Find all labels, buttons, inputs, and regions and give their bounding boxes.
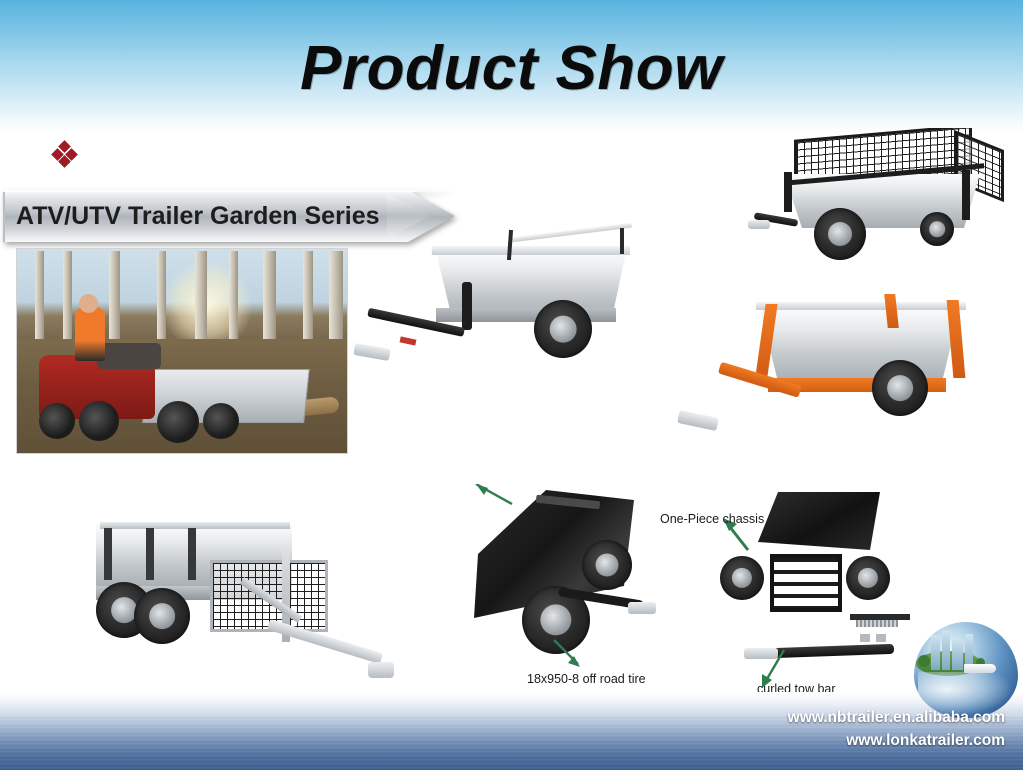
product-image-galvanized-tipping-trailer bbox=[352, 222, 662, 382]
product-image-cage-trailer bbox=[748, 128, 1016, 268]
annotation-arrow-dump bbox=[462, 484, 690, 672]
footer-urls: www.nbtrailer.en.alibaba.com www.lonkatr… bbox=[788, 707, 1005, 752]
banner-label: ATV/UTV Trailer Garden Series bbox=[16, 190, 380, 242]
annotation-chassis: One-Piece chassis bbox=[660, 512, 764, 526]
product-image-tandem-axle-trailer bbox=[86, 506, 408, 698]
page-title: Product Show bbox=[0, 38, 1023, 100]
url-alibaba[interactable]: www.nbtrailer.en.alibaba.com bbox=[788, 707, 1005, 729]
slide-canvas: Product Show ATV/UTV Trailer Garden Seri… bbox=[0, 0, 1023, 770]
product-image-poly-dump-trailer bbox=[462, 484, 692, 674]
product-image-orange-frame-trailer bbox=[664, 286, 1016, 458]
product-image-fastener-parts bbox=[852, 618, 922, 652]
product-image-atv-in-forest bbox=[16, 248, 348, 454]
url-lonkatrailer[interactable]: www.lonkatrailer.com bbox=[788, 730, 1005, 752]
globe-city-ship-logo bbox=[914, 622, 1018, 718]
annotation-tire-spec: 18x950-8 off road tire bbox=[527, 672, 646, 686]
red-diamond-bullet-icon bbox=[52, 142, 78, 168]
